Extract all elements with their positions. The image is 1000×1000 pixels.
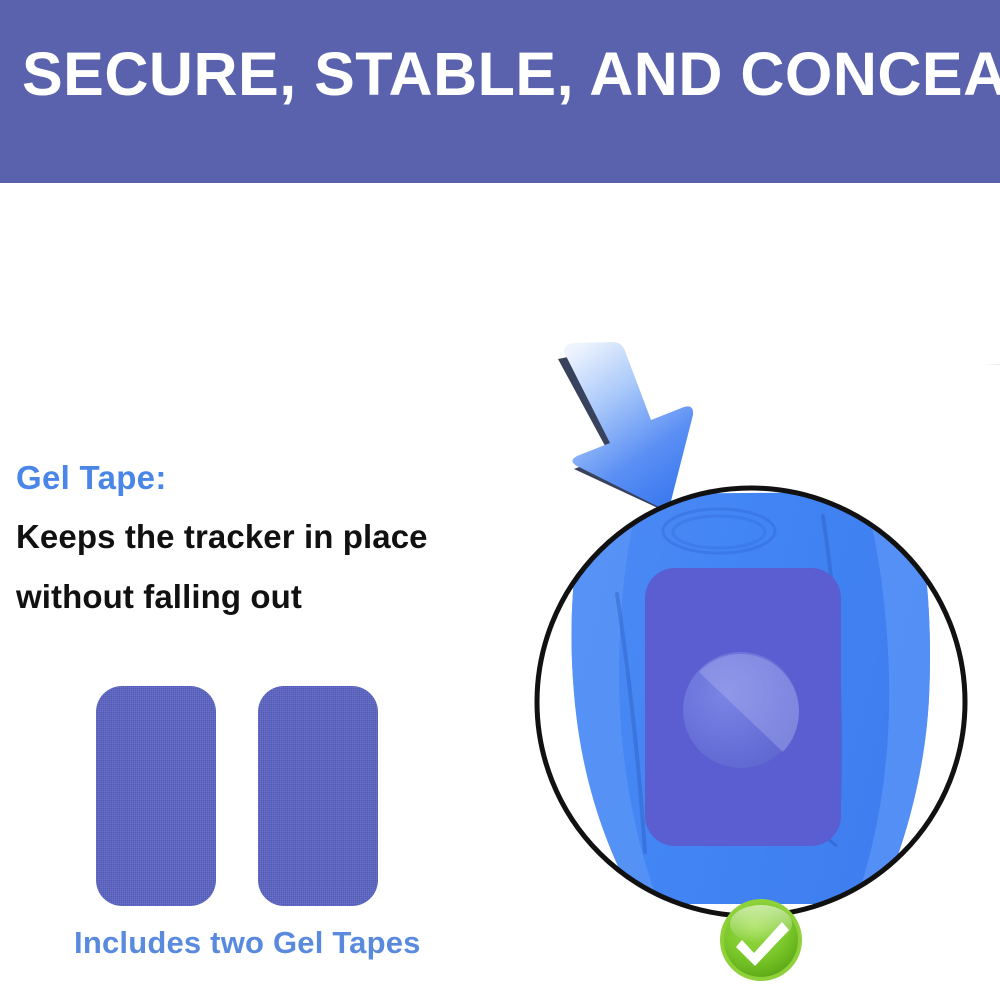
gel-tape-description-line-1: Keeps the tracker in place: [16, 518, 428, 556]
header-banner: SECURE, STABLE, AND CONCEALE: [0, 0, 1000, 183]
gel-tape-caption: Includes two Gel Tapes: [74, 925, 421, 961]
gel-tape-swatch-right: [258, 686, 378, 906]
gel-tape-heading: Gel Tape:: [16, 459, 167, 497]
page-title: SECURE, STABLE, AND CONCEALE: [22, 44, 1000, 105]
infographic-page: SECURE, STABLE, AND CONCEALE: [0, 0, 1000, 1000]
foot-on-insole-illustration: [0, 180, 1000, 365]
green-check-badge-icon: [719, 898, 803, 982]
magnified-insole-detail: [533, 484, 969, 920]
gel-tape-description-line-2: without falling out: [16, 578, 302, 616]
gel-tape-swatch-left: [96, 686, 216, 906]
